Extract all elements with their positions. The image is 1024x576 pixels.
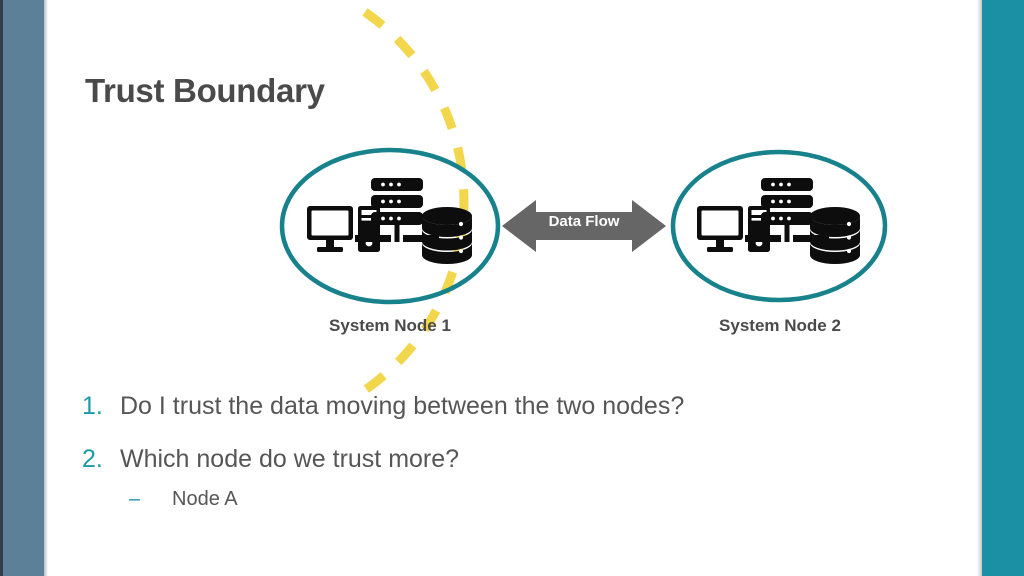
data-flow-label: Data Flow [520, 213, 648, 230]
questions-list: 1. Do I trust the data moving between th… [82, 392, 882, 511]
node-2-caption: System Node 2 [670, 316, 890, 336]
list-item-number: 1. [82, 392, 120, 421]
slide-canvas: Trust Boundary [0, 0, 1024, 576]
list-item-text: Do I trust the data moving between the t… [120, 393, 684, 421]
left-accent-bar [3, 0, 44, 576]
sub-list-item-text: Node A [172, 488, 238, 511]
node-2-ellipse [673, 152, 885, 300]
left-accent-bar-shadow [44, 0, 48, 576]
list-item: 2. Which node do we trust more? [82, 445, 882, 474]
right-accent-bar [982, 0, 1024, 576]
list-item: 1. Do I trust the data moving between th… [82, 392, 882, 421]
node-1-ellipse [282, 150, 498, 302]
sub-list-item: – Node A [129, 488, 882, 511]
node-1-caption: System Node 1 [280, 316, 500, 336]
page-title: Trust Boundary [85, 72, 325, 110]
node-1-icon-group [307, 178, 472, 264]
list-item-text: Which node do we trust more? [120, 446, 459, 474]
sub-list-item-marker: – [129, 488, 172, 511]
node-2-icon-group [697, 178, 860, 264]
list-item-number: 2. [82, 445, 120, 474]
